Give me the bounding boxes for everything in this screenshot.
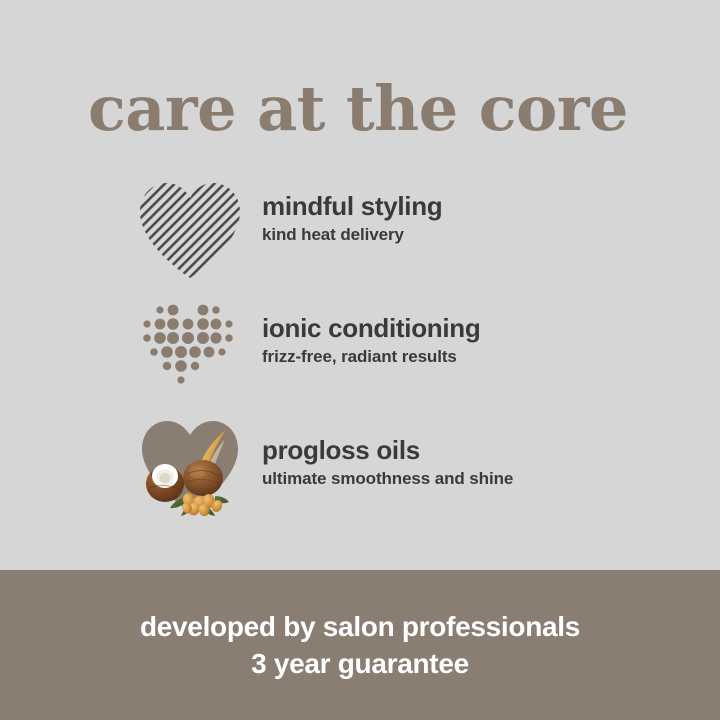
oils-heart-icon [137, 416, 243, 516]
striped-heart-icon [137, 180, 243, 280]
feature-subtitle: frizz-free, radiant results [262, 347, 480, 367]
dotted-heart-icon [137, 300, 243, 400]
feature-text-block: mindful styling kind heat delivery [262, 192, 442, 246]
feature-text-block: ionic conditioning frizz-free, radiant r… [262, 314, 480, 368]
banner-line-1: developed by salon professionals [140, 609, 580, 644]
feature-subtitle: kind heat delivery [262, 225, 442, 245]
feature-subtitle: ultimate smoothness and shine [262, 469, 513, 489]
bottom-banner: developed by salon professionals 3 year … [0, 570, 720, 720]
feature-text-block: progloss oils ultimate smoothness and sh… [262, 436, 513, 490]
feature-list: mindful styling kind heat delivery [0, 172, 720, 562]
feature-title: ionic conditioning [262, 314, 480, 343]
feature-title: mindful styling [262, 192, 442, 221]
feature-title: progloss oils [262, 436, 513, 465]
banner-line-2: 3 year guarantee [251, 646, 469, 681]
page-title: care at the core [88, 78, 628, 140]
